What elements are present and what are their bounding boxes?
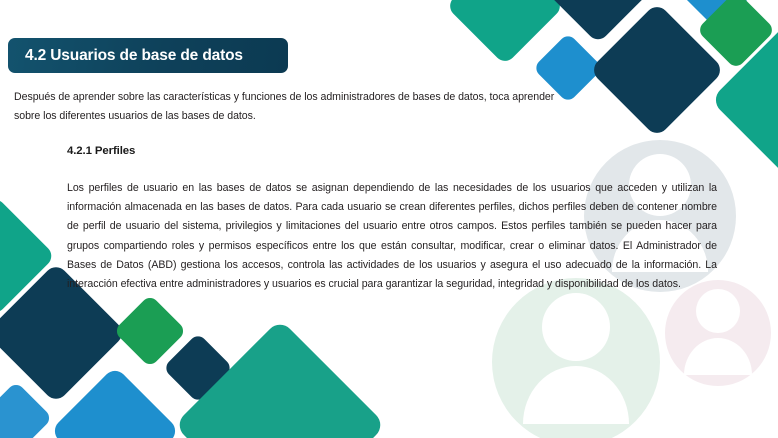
page-title: 4.2 Usuarios de base de datos	[8, 47, 243, 65]
body-paragraph-block: Los perfiles de usuario en las bases de …	[67, 179, 717, 294]
intro-paragraph: Después de aprender sobre las caracterís…	[14, 88, 574, 126]
body-paragraph: Los perfiles de usuario en las bases de …	[67, 179, 717, 294]
section-title-bar: 4.2 Usuarios de base de datos	[8, 38, 288, 73]
slide-canvas: 4.2 Usuarios de base de datos Después de…	[0, 0, 778, 438]
content-layer: 4.2 Usuarios de base de datos Después de…	[0, 0, 778, 438]
intro-paragraph-block: Después de aprender sobre las caracterís…	[14, 88, 574, 126]
subsection-heading: 4.2.1 Perfiles	[67, 145, 135, 157]
